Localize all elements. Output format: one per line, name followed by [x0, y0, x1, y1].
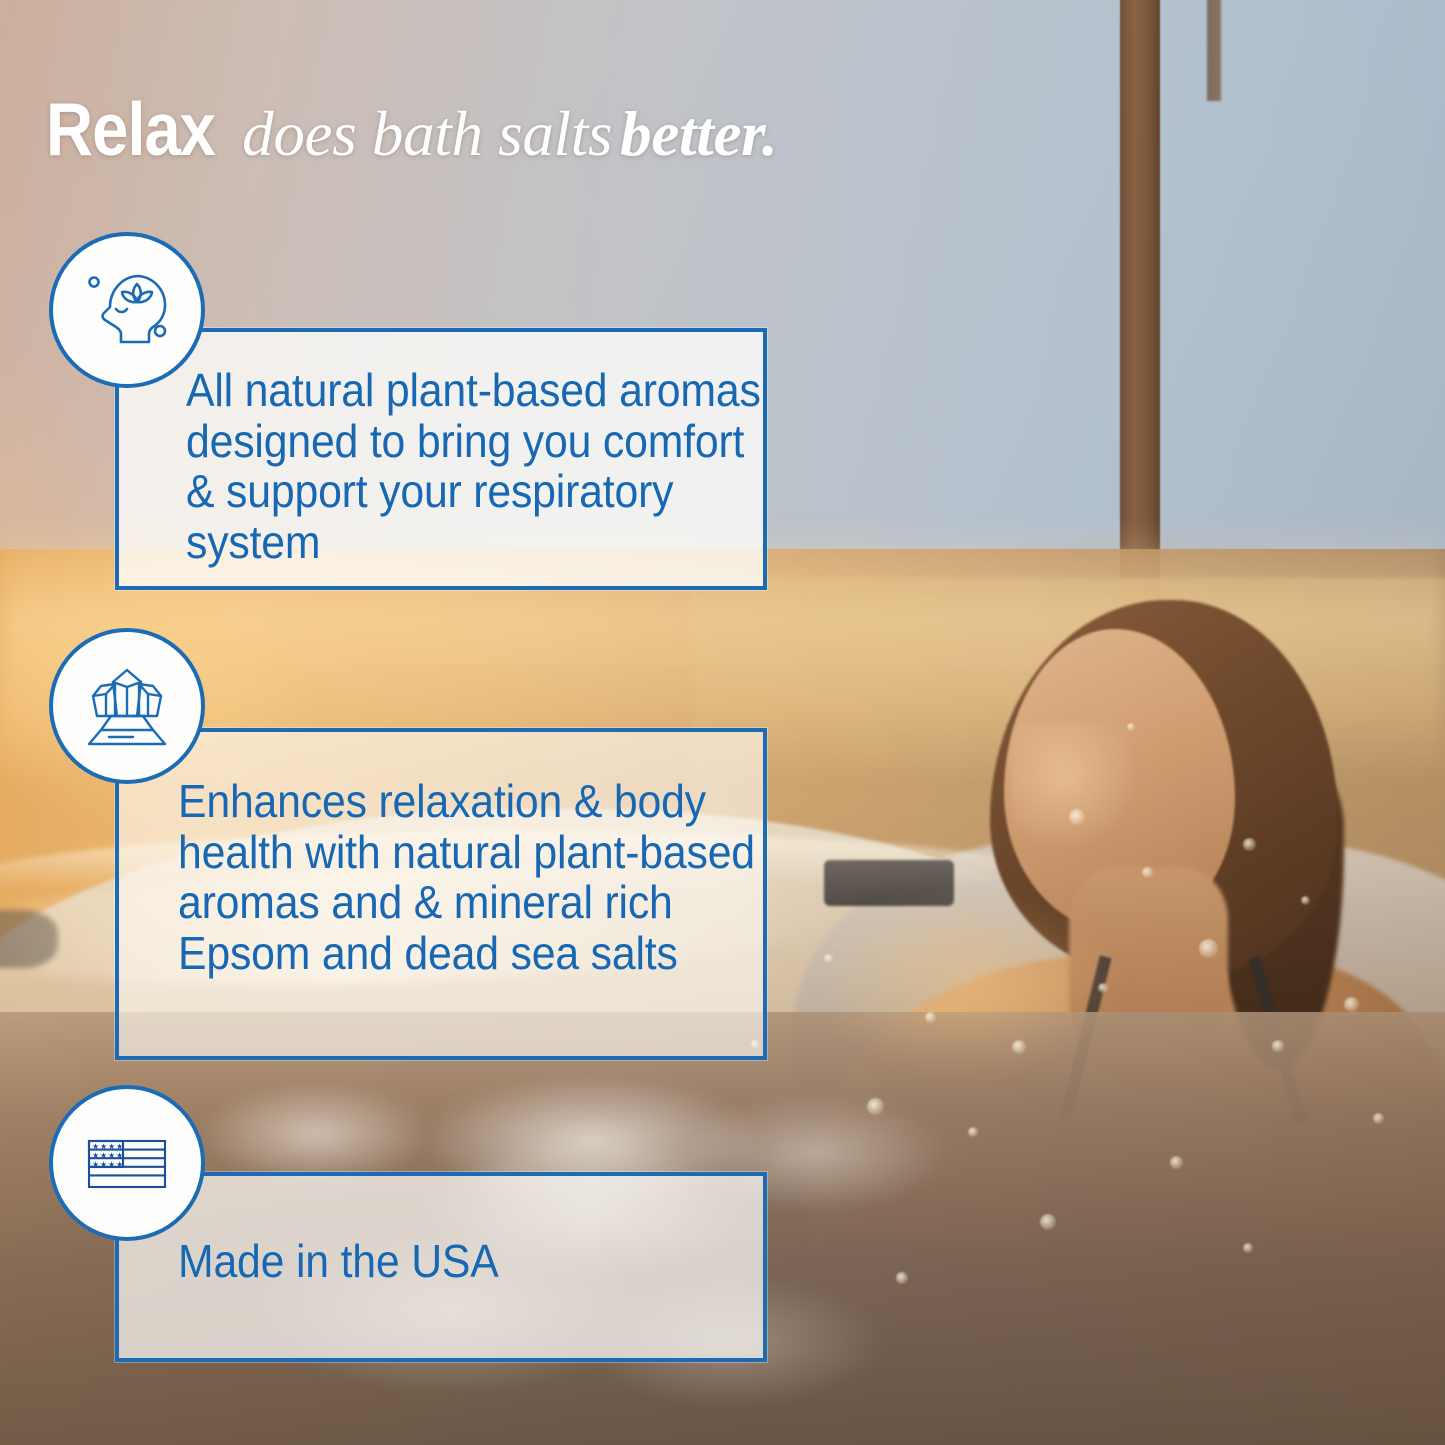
svg-text:★: ★: [92, 1142, 99, 1151]
feature-icon-badge: [49, 628, 205, 784]
svg-text:★: ★: [116, 1142, 123, 1151]
svg-text:★: ★: [108, 1151, 115, 1160]
svg-text:★: ★: [116, 1160, 123, 1169]
svg-text:★: ★: [100, 1160, 107, 1169]
svg-text:★: ★: [108, 1142, 115, 1151]
svg-text:★: ★: [108, 1160, 115, 1169]
svg-text:★: ★: [100, 1151, 107, 1160]
feature-icon-badge: [49, 232, 205, 388]
feature-text: Made in the USA: [178, 1236, 736, 1287]
svg-text:★: ★: [92, 1160, 99, 1169]
svg-text:★: ★: [116, 1151, 123, 1160]
headline-middle: does bath salts: [242, 98, 612, 171]
infographic-canvas: Relaxdoes bath saltsbetter. All natural …: [0, 0, 1445, 1445]
feature-icon-badge: ★ ★ ★ ★ ★ ★ ★ ★ ★ ★ ★ ★: [49, 1085, 205, 1241]
mineral-crystals-icon: [75, 654, 179, 758]
head-lotus-icon: [77, 260, 177, 360]
usa-flag-icon: ★ ★ ★ ★ ★ ★ ★ ★ ★ ★ ★ ★: [75, 1111, 179, 1215]
headline-brand: Relax: [46, 86, 215, 172]
svg-text:★: ★: [92, 1151, 99, 1160]
feature-text: All natural plant-based aromas designed …: [186, 365, 763, 567]
headline-emphasis: better.: [620, 98, 777, 171]
feature-text: Enhances relaxation & body health with n…: [178, 776, 760, 978]
page-title: Relaxdoes bath saltsbetter.: [46, 86, 777, 172]
svg-text:★: ★: [100, 1142, 107, 1151]
